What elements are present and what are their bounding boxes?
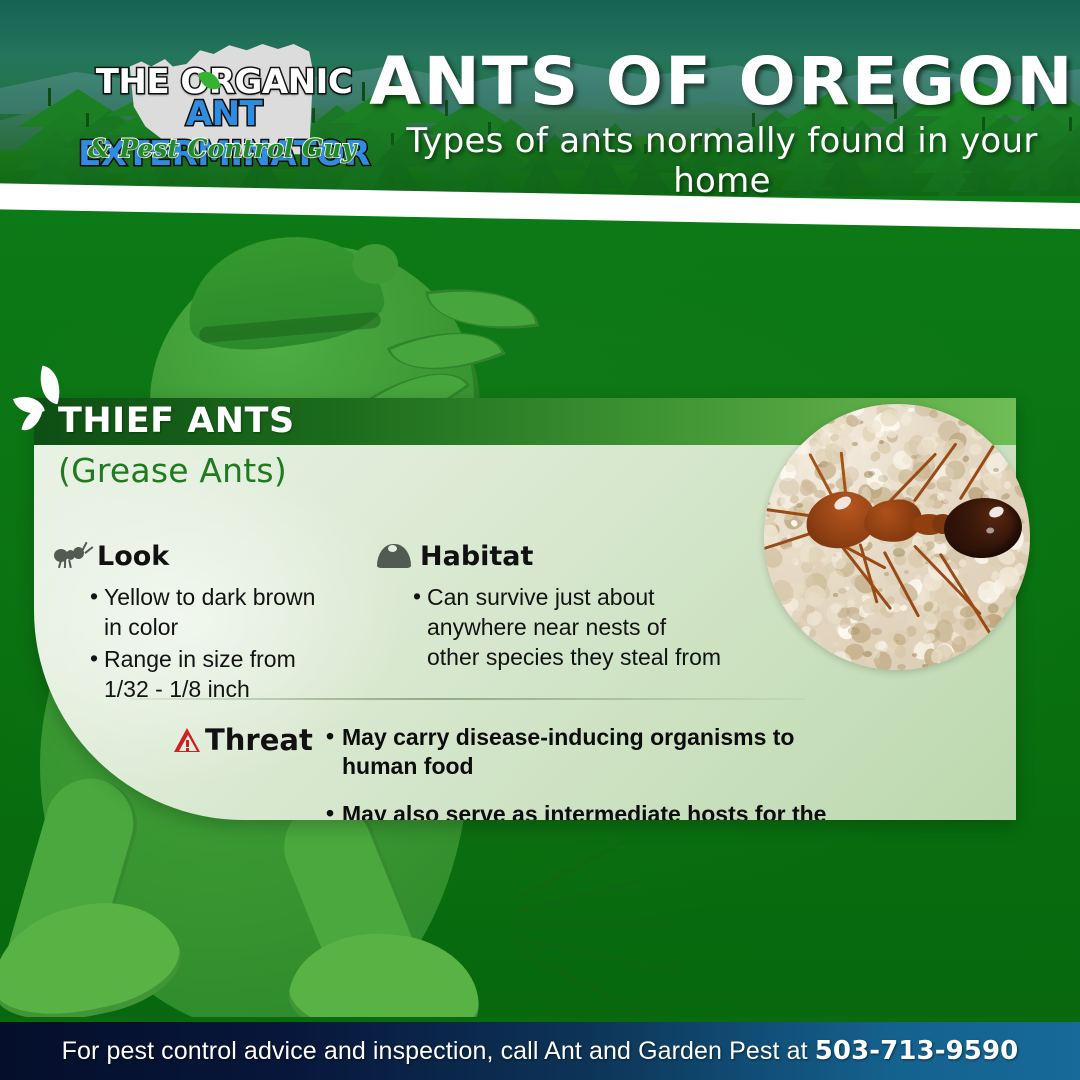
page-title: ANTS OF OREGON	[365, 48, 1079, 115]
ant-silhouette-icon	[54, 545, 88, 567]
mascot-whiskers	[520, 856, 740, 966]
section-habitat-heading: Habitat	[420, 541, 533, 572]
page-subtitle: Types of ants normally found in your hom…	[372, 121, 1072, 201]
section-habitat-header: Habitat	[377, 539, 777, 573]
footer-phone[interactable]: 503-713-9590	[815, 1036, 1019, 1066]
footer-bar: For pest control advice and inspection, …	[0, 1021, 1080, 1080]
list-item: Yellow to dark brown in color	[90, 583, 384, 643]
section-look-header: Look	[54, 539, 384, 573]
warning-triangle-icon	[174, 728, 201, 753]
section-habitat-bullets: Can survive just about anywhere near nes…	[413, 583, 777, 673]
ant-mound-icon	[377, 544, 411, 568]
footer-message: For pest control advice and inspection, …	[62, 1037, 815, 1065]
list-item: Can survive just about anywhere near nes…	[413, 583, 777, 673]
brand-logo[interactable]: THE ORGANIC ANT EXTERMINATOR & Pest Cont…	[72, 30, 372, 180]
section-threat-bullets: May carry disease-inducing organisms to …	[326, 723, 974, 820]
section-look: Look Yellow to dark brown in color Range…	[54, 539, 384, 707]
list-item: May also serve as intermediate hosts for…	[326, 800, 974, 820]
card-alt-name: (Grease Ants)	[58, 451, 287, 490]
infographic-page: ANTS OF OREGON Types of ants normally fo…	[0, 0, 1080, 1080]
section-habitat: Habitat Can survive just about anywhere …	[377, 539, 777, 675]
thief-ant-photo	[764, 404, 1030, 670]
section-threat: Threat May carry disease-inducing organi…	[174, 723, 974, 820]
section-look-heading: Look	[97, 541, 169, 572]
section-threat-header: Threat	[174, 723, 313, 757]
footer-text: For pest control advice and inspection, …	[62, 1036, 1019, 1066]
footer-top-line	[0, 1017, 1080, 1022]
sprout-leaf-icon	[12, 368, 74, 430]
logo-line-3: & Pest Control Guy	[72, 134, 372, 163]
section-threat-heading: Threat	[205, 723, 313, 757]
title-block: ANTS OF OREGON Types of ants normally fo…	[372, 48, 1072, 201]
list-item: Range in size from 1/32 - 1/8 inch	[90, 645, 384, 705]
mascot-hat-knob	[352, 244, 398, 284]
section-look-bullets: Yellow to dark brown in color Range in s…	[90, 583, 384, 705]
list-item: May carry disease-inducing organisms to …	[326, 723, 974, 781]
section-divider	[130, 698, 806, 700]
